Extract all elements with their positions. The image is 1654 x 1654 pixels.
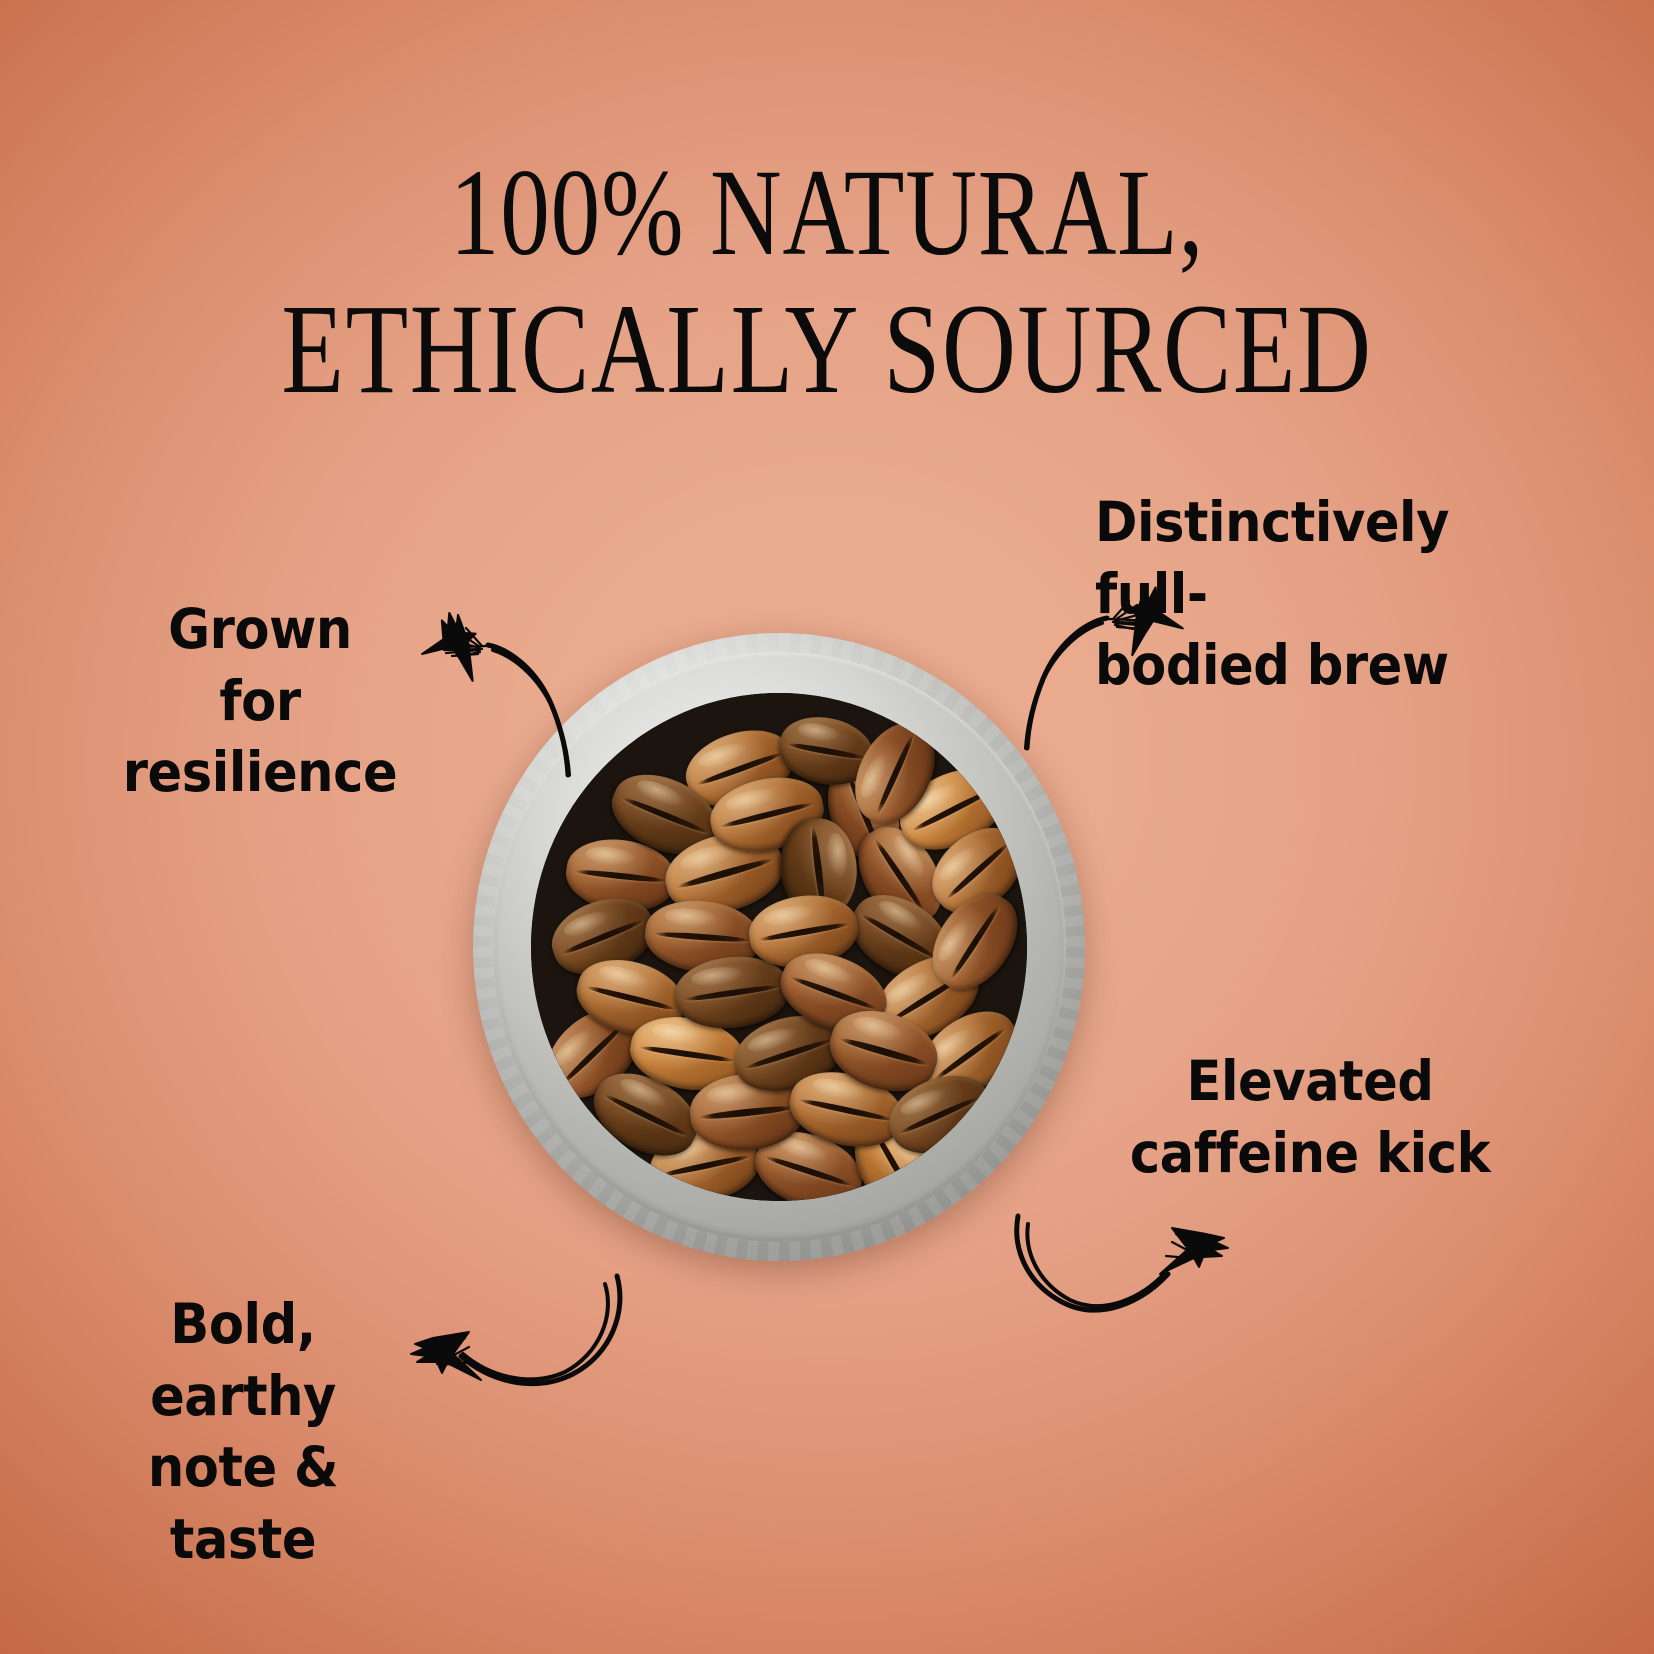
- coffee-beans: [531, 693, 1027, 1202]
- callout-grown-for-resilience: Grown for resilience: [121, 594, 400, 809]
- bowl-cavity: [531, 693, 1027, 1202]
- headline-line-1: 100% NATURAL,: [165, 146, 1488, 280]
- callout-distinctively-full-bodied-brew: Distinctively full- bodied brew: [1095, 487, 1532, 702]
- callout-elevated-caffeine-kick: Elevated caffeine kick: [1124, 1046, 1496, 1189]
- coffee-bowl-image: [473, 633, 1085, 1261]
- headline-line-2: ETHICALLY SOURCED: [165, 280, 1488, 418]
- coffee-promo-poster: 100% NATURAL, ETHICALLY SOURCED Grown fo…: [0, 0, 1654, 1654]
- callout-bold-earthy-note-and-taste: Bold, earthy note & taste: [90, 1289, 397, 1575]
- page-title: 100% NATURAL, ETHICALLY SOURCED: [165, 146, 1488, 418]
- arrow-icon-bold-earthy-note-and-taste: [405, 1270, 635, 1430]
